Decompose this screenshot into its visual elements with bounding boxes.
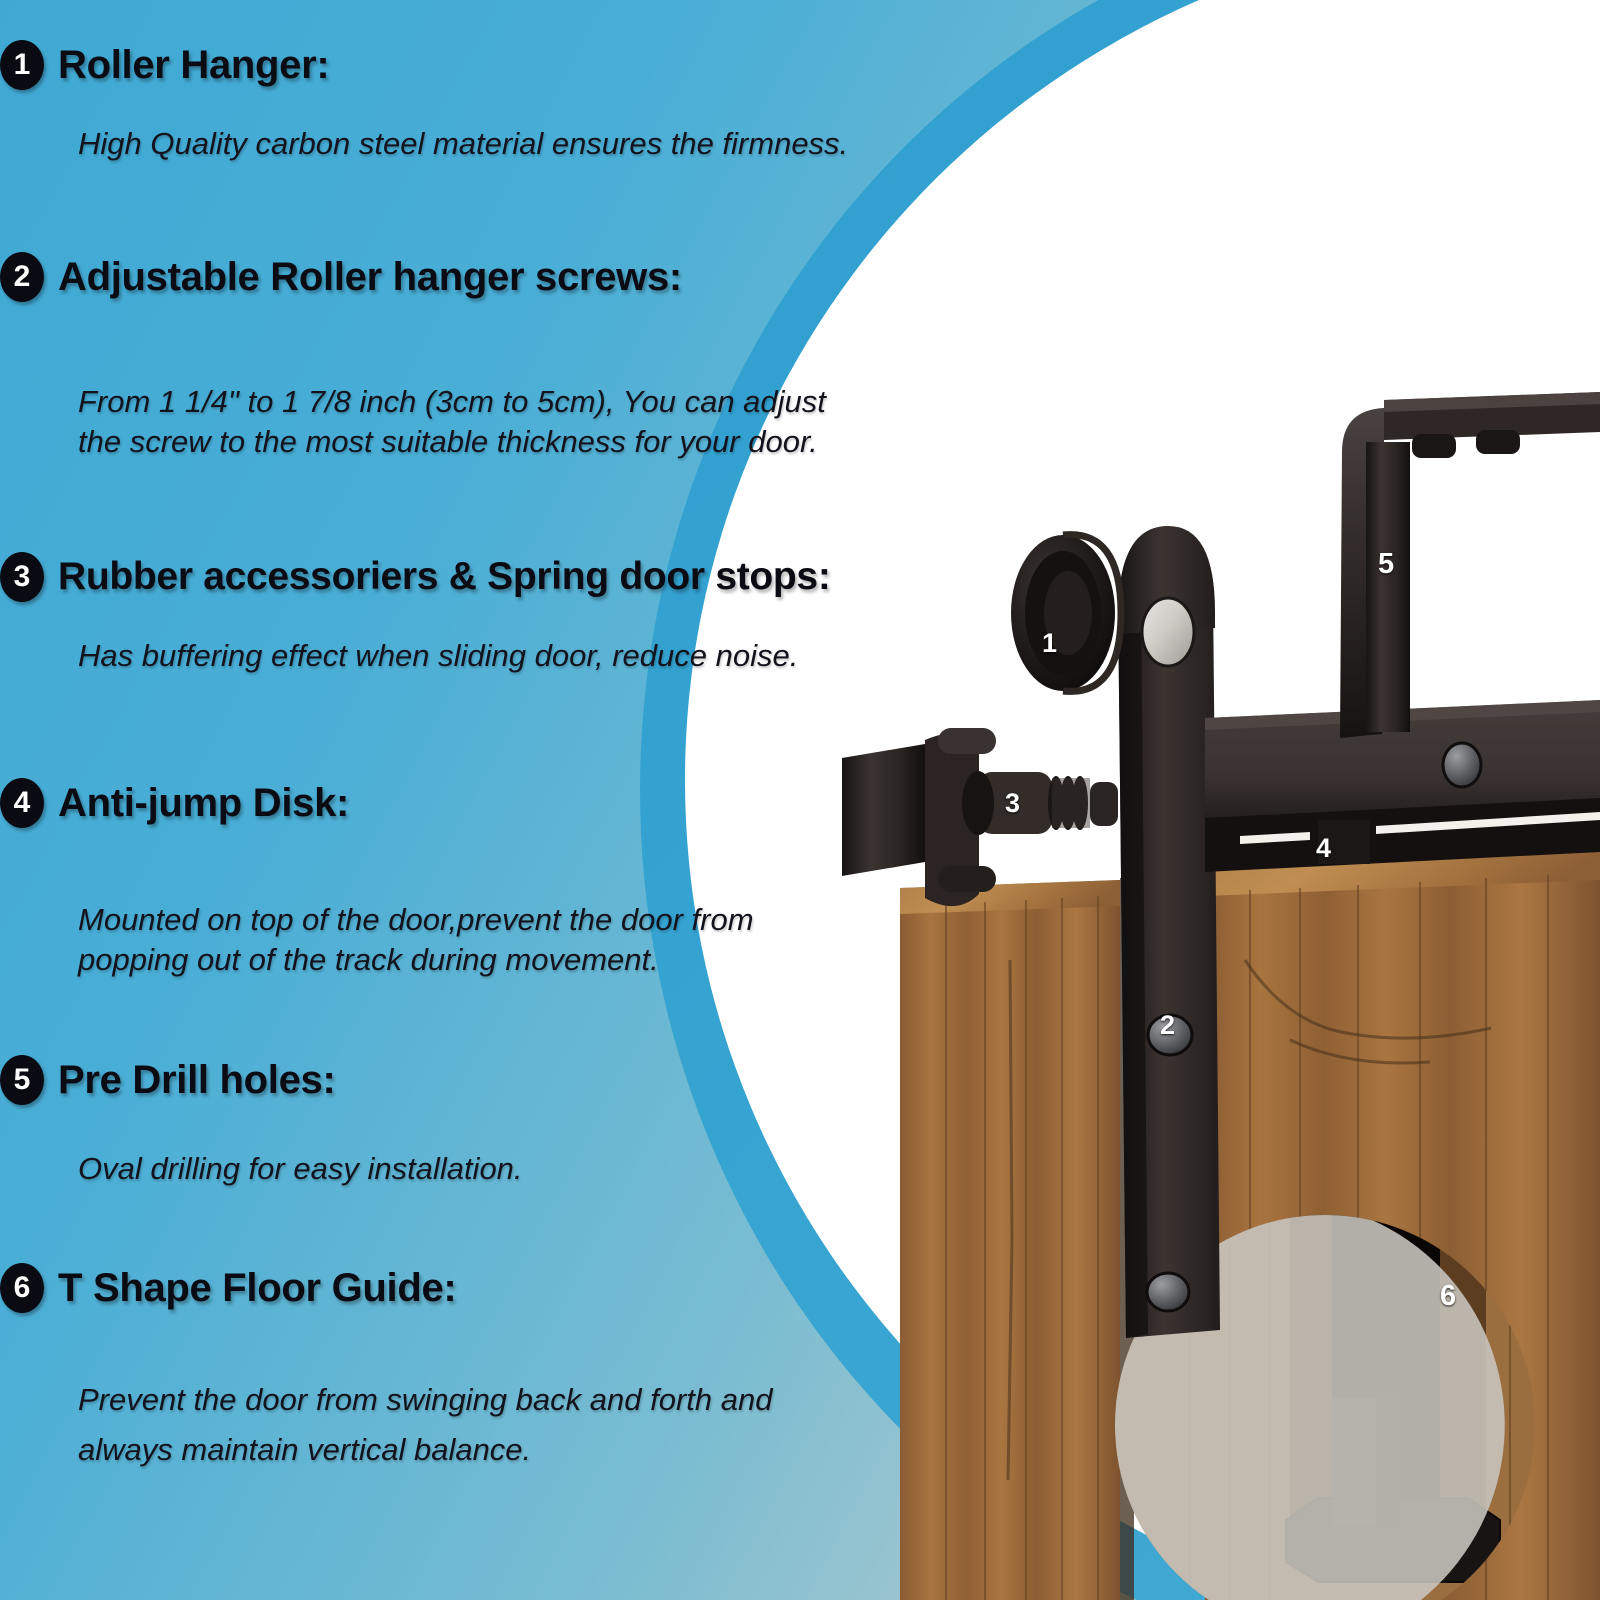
photo-callout-3: 3	[1005, 788, 1020, 819]
roller-hanger-strap	[1118, 526, 1220, 1338]
photo-callout-5: 5	[1378, 548, 1394, 581]
photo-callout-2: 2	[1160, 1010, 1175, 1041]
photo-callout-4: 4	[1316, 833, 1331, 864]
photo-callout-6: 6	[1440, 1280, 1456, 1313]
product-photo	[0, 0, 1600, 1600]
spring-door-stop	[842, 728, 1118, 906]
photo-callout-1: 1	[1042, 628, 1057, 659]
roller-wheel	[1011, 535, 1121, 692]
infographic-canvas: 1 Roller Hanger: High Quality carbon ste…	[0, 0, 1600, 1600]
